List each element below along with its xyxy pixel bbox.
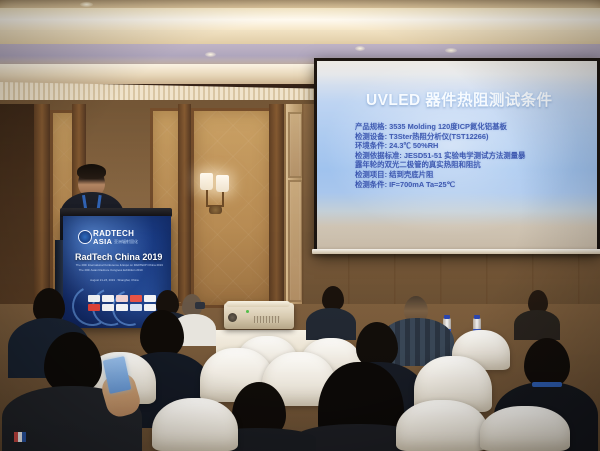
sponsor-logo [88, 295, 100, 302]
slide-line: 环境条件: 24.3℃ 50%RH [355, 141, 585, 151]
wall-stile [178, 104, 191, 302]
slide-line: 检测设备: T3Ster热阻分析仪(TST12266) [355, 132, 585, 142]
sponsor-logo [144, 304, 156, 311]
audience-head-front [44, 332, 102, 394]
audience-head [524, 338, 570, 388]
bottle-cap-icon [474, 315, 480, 319]
projector-vent [254, 316, 280, 323]
flag-badge-icon [14, 432, 26, 442]
podium-dateline: August 21-23, 2019 · Shanghai, China [90, 278, 138, 282]
ceiling-downlight-icon [445, 48, 457, 53]
chair [396, 400, 488, 451]
slide-line: 检测项目: 结到壳底片阻 [355, 170, 585, 180]
sponsor-logo [116, 295, 128, 302]
sponsor-logo [130, 304, 142, 311]
chair [480, 406, 570, 451]
ceiling-downlight-icon [355, 46, 365, 51]
podium-subline-1: The 20th International Conference & Expo… [76, 263, 163, 267]
ceiling-downlight-icon [80, 2, 93, 7]
projector-power-led-icon [246, 310, 249, 313]
wall-stile [34, 104, 50, 304]
projector-lens-icon [228, 313, 237, 322]
projector-top [226, 301, 290, 307]
bottle-cap-icon [444, 315, 450, 319]
sunglasses-icon [195, 302, 205, 309]
sconce-shade-right-icon [216, 175, 229, 192]
sponsor-logo [130, 295, 142, 302]
sconce-base-icon [209, 206, 222, 214]
sponsor-logo [102, 304, 114, 311]
slide-body: 产品规格: 3535 Molding 120度ICP氮化铝基板 检测设备: T3… [355, 122, 585, 189]
audience-shoulders [306, 308, 356, 340]
radtech-globe-icon [78, 230, 92, 244]
audience-shoulders [514, 310, 560, 340]
radtech-logo-suffix: 亚洲辐射固化 [114, 239, 138, 245]
wall-panel-sconce [191, 108, 275, 308]
sconce-shade-left-icon [200, 173, 213, 190]
wall-left-recess [0, 104, 36, 304]
slide-line: 产品规格: 3535 Molding 120度ICP氮化铝基板 [355, 122, 585, 132]
speaker-hair [77, 164, 106, 179]
sponsor-logo-row-2 [88, 304, 156, 311]
sponsor-logo [144, 295, 156, 302]
projection-screen-bottom-bar [312, 249, 600, 254]
sponsor-logo [116, 304, 128, 311]
audience-head [140, 310, 184, 358]
slide-line: 露年轮的双光二极管的真实热阻和阻抗 [355, 160, 585, 170]
door-panel-upper [288, 112, 303, 178]
radtech-logo-word-bottom: ASIA [93, 237, 112, 246]
podium-headline: RadTech China 2019 [75, 252, 162, 262]
sponsor-logo-row-1 [88, 295, 156, 302]
sponsor-logo [102, 295, 114, 302]
ceiling-downlight-icon [205, 52, 216, 57]
audience-lanyard [532, 382, 562, 387]
wall-stile [269, 104, 284, 302]
chair [152, 398, 238, 451]
door-panel-lower [288, 180, 303, 302]
slide-line: 检测依据标准: JESD51-51 实验电学测试方法测量暴 [355, 151, 585, 161]
sponsor-logo [88, 304, 100, 311]
conference-photo: UVLED 器件热阻测试条件 产品规格: 3535 Molding 120度IC… [0, 0, 600, 451]
slide-line: 检测条件: IF=700mA Ta=25℃ [355, 180, 585, 190]
podium-subline-2: The 20th Asian Radcure Congress Exhibiti… [79, 268, 143, 272]
slide-title: UVLED 器件热阻测试条件 [366, 88, 552, 110]
